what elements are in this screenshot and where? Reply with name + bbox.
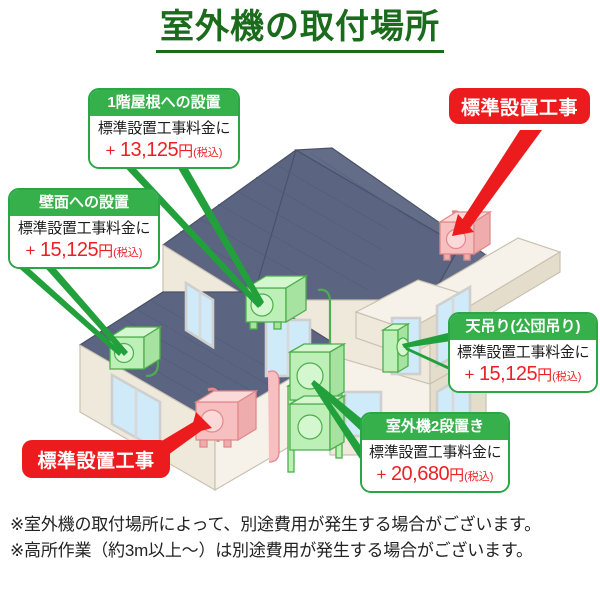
footnote-line-1: ※室外機の取付場所によって、別途費用が発生する場合がございます。 — [10, 512, 595, 538]
callout-ceiling-hung[interactable]: 天吊り(公団吊り) 標準設置工事料金に + 15,125円(税込) — [448, 312, 598, 393]
callout-ceiling-hung-header: 天吊り(公団吊り) — [450, 314, 596, 340]
callout-two-tier-price: + 20,680円(税込) — [369, 463, 501, 486]
callout-wall[interactable]: 壁面への設置 標準設置工事料金に + 15,125円(税込) — [8, 188, 160, 269]
price-tax-note: (税込) — [113, 247, 142, 259]
ac-unit-two-tier-lower — [290, 396, 344, 450]
standard-install-label-top-right[interactable]: 標準設置工事 — [449, 88, 590, 124]
roof-2f — [163, 148, 486, 300]
roof-1f — [80, 292, 330, 423]
callout-wall-line1: 標準設置工事料金に — [17, 220, 151, 237]
callout-wall-price: + 15,125円(税込) — [17, 239, 151, 262]
standard-install-label-bottom-left[interactable]: 標準設置工事 — [22, 440, 170, 478]
ac-unit-ground — [196, 391, 256, 447]
callout-wall-body: 標準設置工事料金に + 15,125円(税込) — [10, 216, 158, 267]
price-amount: 13,125 — [120, 139, 178, 161]
ac-unit-two-tier-upper — [290, 344, 344, 400]
ac-unit-two-tier — [288, 344, 344, 472]
price-plus-sign: + — [106, 141, 116, 160]
callout-roof-1f-line1: 標準設置工事料金に — [97, 120, 231, 137]
callout-wall-header: 壁面への設置 — [10, 190, 158, 216]
callout-two-tier[interactable]: 室外機2段置き 標準設置工事料金に + 20,680円(税込) — [360, 412, 510, 493]
callout-two-tier-line1: 標準設置工事料金に — [369, 444, 501, 461]
callout-roof-1f-price: + 13,125円(税込) — [97, 139, 231, 162]
callout-two-tier-header: 室外機2段置き — [362, 414, 508, 440]
callout-ceiling-hung-price: + 15,125円(税込) — [457, 363, 589, 386]
refrigerant-pipes — [146, 290, 330, 462]
wall-2f — [163, 245, 486, 384]
ac-unit-wall — [110, 327, 160, 369]
callout-two-tier-body: 標準設置工事料金に + 20,680円(税込) — [362, 440, 508, 491]
infographic-root: 室外機の取付場所 .rf{fill:#5b6480;stroke:#4a5268… — [0, 0, 600, 600]
page-title-wrap: 室外機の取付場所 — [0, 8, 600, 53]
callout-roof-1f-body: 標準設置工事料金に + 13,125円(税込) — [90, 116, 238, 167]
ac-unit-balcony — [440, 212, 490, 260]
price-yen: 円 — [178, 143, 193, 160]
footnote-line-2: ※高所作業（約3m以上～）は別途費用が発生する場合がございます。 — [10, 538, 595, 564]
page-title: 室外機の取付場所 — [156, 8, 444, 53]
callout-ceiling-hung-line1: 標準設置工事料金に — [457, 344, 589, 361]
callout-roof-1f[interactable]: 1階屋根への設置 標準設置工事料金に + 13,125円(税込) — [88, 88, 240, 169]
callout-ceiling-hung-body: 標準設置工事料金に + 15,125円(税込) — [450, 340, 596, 391]
price-tax-note: (税込) — [464, 471, 493, 483]
footnotes: ※室外機の取付場所によって、別途費用が発生する場合がございます。 ※高所作業（約… — [10, 512, 595, 565]
price-yen: 円 — [449, 467, 464, 484]
price-yen: 円 — [98, 243, 113, 260]
price-tax-note: (税込) — [193, 147, 222, 159]
callout-roof-1f-header: 1階屋根への設置 — [90, 90, 238, 116]
price-tax-note: (税込) — [552, 371, 581, 383]
ac-unit-ceiling-hung — [383, 324, 409, 372]
price-plus-sign: + — [465, 365, 475, 384]
price-amount: 20,680 — [391, 463, 449, 485]
price-yen: 円 — [537, 367, 552, 384]
price-amount: 15,125 — [40, 239, 98, 261]
ac-unit-roof-1f — [246, 276, 306, 329]
price-plus-sign: + — [26, 241, 36, 260]
price-amount: 15,125 — [479, 363, 537, 385]
price-plus-sign: + — [377, 465, 387, 484]
